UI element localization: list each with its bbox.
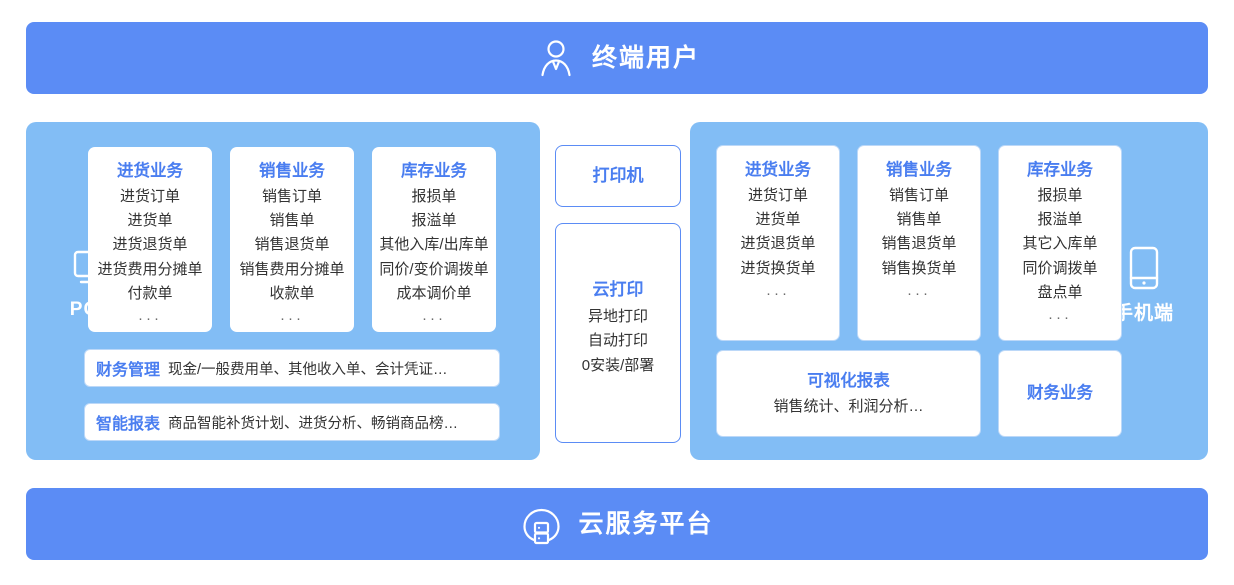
card-item: 销售单 — [896, 208, 941, 232]
mobile-card-inventory: 库存业务 报损单 报溢单 其它入库单 同价调拨单 盘点单 ··· — [998, 145, 1122, 341]
card-more-ellipsis: ··· — [422, 306, 446, 332]
mobile-phone-icon — [1125, 244, 1163, 297]
card-more-ellipsis: ··· — [766, 281, 790, 307]
card-item: 进货换货单 — [740, 257, 815, 281]
card-title: 进货业务 — [117, 158, 183, 185]
row-description: 商品智能补货计划、进货分析、畅销商品榜… — [168, 412, 458, 433]
mobile-card-sales: 销售业务 销售订单 销售单 销售退货单 销售换货单 ··· — [857, 145, 981, 341]
card-title: 销售业务 — [886, 157, 952, 184]
pc-card-purchasing: 进货业务 进货订单 进货单 进货退货单 进货费用分摊单 付款单 ··· — [88, 147, 212, 332]
card-more-ellipsis: ··· — [280, 306, 304, 332]
card-item: 进货单 — [755, 208, 800, 232]
printer-title: 打印机 — [593, 162, 644, 191]
row-title: 智能报表 — [96, 410, 160, 434]
mobile-card-purchasing: 进货业务 进货订单 进货单 进货退货单 进货换货单 ··· — [716, 145, 840, 341]
card-title: 进货业务 — [745, 157, 811, 184]
cloud-print-title: 云打印 — [592, 276, 643, 305]
mobile-box-finance: 财务业务 — [998, 350, 1122, 437]
middle-area: PC端 进货业务 进货订单 进货单 进货退货单 进货费用分摊单 付款单 ··· … — [0, 122, 1234, 462]
card-item: 进货单 — [127, 209, 172, 233]
card-item: 销售订单 — [262, 185, 322, 209]
card-more-ellipsis: ··· — [1048, 305, 1072, 331]
bottom-banner-cloud-platform: 云服务平台 — [26, 488, 1208, 560]
pc-card-inventory: 库存业务 报损单 报溢单 其他入库/出库单 同价/变价调拨单 成本调价单 ··· — [372, 147, 496, 332]
card-item: 同价调拨单 — [1022, 257, 1097, 281]
card-item: 销售退货单 — [254, 233, 329, 257]
box-title: 财务业务 — [1027, 380, 1093, 406]
cloud-server-icon — [520, 502, 564, 546]
box-title: 可视化报表 — [807, 368, 890, 394]
cloud-print-item: 自动打印 — [588, 329, 648, 353]
row-description: 现金/一般费用单、其他收入单、会计凭证… — [168, 358, 448, 379]
card-item: 销售费用分摊单 — [239, 258, 344, 282]
card-item: 收款单 — [269, 282, 314, 306]
architecture-diagram: 终端用户 PC端 进货业务 进货订单 进货单 进货退货单 进货费用分摊单 付款 — [0, 0, 1234, 585]
card-more-ellipsis: ··· — [907, 281, 931, 307]
cloud-print-box: 云打印 异地打印 自动打印 0安装/部署 — [555, 223, 681, 443]
card-title: 销售业务 — [259, 158, 325, 185]
card-item: 报溢单 — [411, 209, 456, 233]
top-banner-label: 终端用户 — [592, 46, 700, 71]
card-item: 进货退货单 — [740, 232, 815, 256]
card-item: 报溢单 — [1037, 208, 1082, 232]
cloud-print-item: 0安装/部署 — [582, 354, 655, 378]
card-item: 盘点单 — [1037, 281, 1082, 305]
mobile-device-label: 手机端 — [1114, 304, 1174, 323]
card-item: 同价/变价调拨单 — [379, 258, 488, 282]
card-item: 报损单 — [411, 185, 456, 209]
cloud-print-content: 云打印 异地打印 自动打印 0安装/部署 — [582, 276, 655, 378]
card-item: 报损单 — [1037, 184, 1082, 208]
card-title: 库存业务 — [401, 158, 467, 185]
card-item: 付款单 — [127, 282, 172, 306]
card-item: 其它入库单 — [1022, 232, 1097, 256]
card-item: 销售单 — [269, 209, 314, 233]
bottom-banner-label: 云服务平台 — [578, 512, 713, 537]
pc-card-sales: 销售业务 销售订单 销售单 销售退货单 销售费用分摊单 收款单 ··· — [230, 147, 354, 332]
card-item: 销售订单 — [889, 184, 949, 208]
row-title: 财务管理 — [96, 356, 160, 380]
card-item: 进货订单 — [748, 184, 808, 208]
box-description: 销售统计、利润分析… — [773, 395, 923, 419]
pc-row-finance-management: 财务管理 现金/一般费用单、其他收入单、会计凭证… — [84, 349, 500, 387]
card-title: 库存业务 — [1027, 157, 1093, 184]
pc-row-smart-reports: 智能报表 商品智能补货计划、进货分析、畅销商品榜… — [84, 403, 500, 441]
card-more-ellipsis: ··· — [138, 306, 162, 332]
card-item: 销售换货单 — [881, 257, 956, 281]
card-item: 成本调价单 — [396, 282, 471, 306]
card-item: 销售退货单 — [881, 232, 956, 256]
card-item: 其他入库/出库单 — [379, 233, 488, 257]
user-person-icon — [534, 36, 578, 80]
card-item: 进货费用分摊单 — [97, 258, 202, 282]
top-banner-end-user: 终端用户 — [26, 22, 1208, 94]
card-item: 进货订单 — [120, 185, 180, 209]
card-item: 进货退货单 — [112, 233, 187, 257]
cloud-print-item: 异地打印 — [588, 305, 648, 329]
printer-box: 打印机 — [555, 145, 681, 207]
mobile-box-visual-reports: 可视化报表 销售统计、利润分析… — [716, 350, 981, 437]
